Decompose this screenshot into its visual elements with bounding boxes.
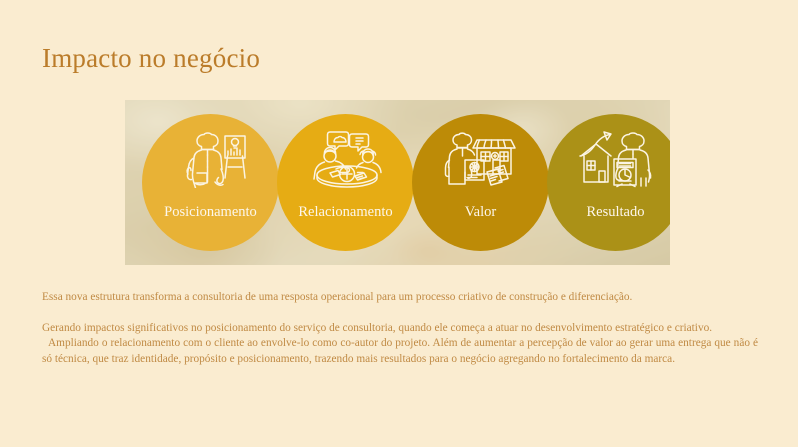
two-people-at-table-talking-icon: [306, 128, 386, 190]
chef-with-menu-growth-chart-icon: [576, 128, 656, 190]
chef-with-storefront-and-menus-icon: [441, 128, 521, 190]
pillar-circle-posicionamento[interactable]: Posicionamento: [142, 114, 279, 251]
pillar-circle-resultado[interactable]: Resultado: [547, 114, 670, 251]
pillar-circle-row: Posicionamento: [125, 100, 670, 265]
body-copy: Essa nova estrutura transforma a consult…: [42, 290, 758, 367]
page-title: Impacto no negócio: [42, 42, 260, 74]
body-paragraph-1: Essa nova estrutura transforma a consult…: [42, 290, 758, 306]
visual-panel: Posicionamento: [125, 100, 670, 265]
pillar-circle-relacionamento[interactable]: Relacionamento: [277, 114, 414, 251]
body-paragraph-2: Gerando impactos significativos no posic…: [42, 321, 758, 337]
pillar-label: Resultado: [587, 204, 645, 221]
pillar-label: Valor: [465, 204, 496, 221]
body-paragraph-3: Ampliando o relacionamento com o cliente…: [42, 336, 758, 367]
chef-presenting-board-icon: [171, 128, 251, 190]
pillar-circle-valor[interactable]: Valor: [412, 114, 549, 251]
slide-canvas: Impacto no negócio: [0, 0, 798, 447]
pillar-label: Relacionamento: [298, 204, 392, 221]
pillar-label: Posicionamento: [164, 204, 257, 221]
